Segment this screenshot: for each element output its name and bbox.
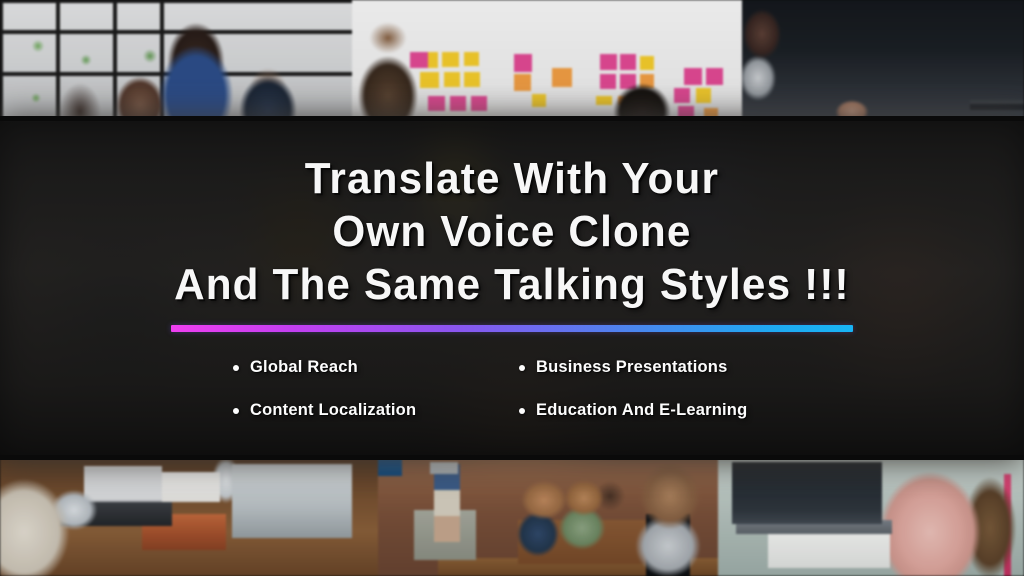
bullet-label: Global Reach: [250, 358, 358, 377]
headline-line-2: Own Voice Clone: [174, 205, 850, 258]
accent-gradient-bar: [171, 325, 853, 332]
slide-content: Translate With Your Own Voice Clone And …: [0, 118, 1024, 460]
headline-line-3: And The Same Talking Styles !!!: [174, 258, 850, 311]
bullet-label: Education And E-Learning: [536, 401, 747, 420]
bullet-label: Business Presentations: [536, 358, 727, 377]
bullet-item: Education And E-Learning: [519, 401, 853, 420]
bullet-dot-icon: [519, 365, 525, 371]
photo-dark-boardroom-laptop: [742, 0, 1024, 120]
top-photo-strip: [0, 0, 1024, 120]
feature-bullet-list: Global Reach Business Presentations Cont…: [171, 358, 853, 420]
bullet-item: Business Presentations: [519, 358, 853, 377]
bullet-label: Content Localization: [250, 401, 416, 420]
photo-whiteboard-sticky-notes: [352, 0, 742, 120]
promo-slide: Translate With Your Own Voice Clone And …: [0, 0, 1024, 576]
headline-line-1: Translate With Your: [174, 152, 850, 205]
photo-laptop-wooden-desk: [0, 458, 378, 576]
bullet-dot-icon: [519, 408, 525, 414]
headline: Translate With Your Own Voice Clone And …: [174, 152, 850, 311]
photo-laptop-person-pink: [718, 458, 1024, 576]
photo-office-team-shelves: [0, 0, 352, 120]
bullet-dot-icon: [233, 408, 239, 414]
bullet-item: Global Reach: [233, 358, 519, 377]
bottom-photo-strip: [0, 458, 1024, 576]
bullet-dot-icon: [233, 365, 239, 371]
photo-lounge-team-meeting: [378, 458, 718, 576]
bullet-item: Content Localization: [233, 401, 519, 420]
